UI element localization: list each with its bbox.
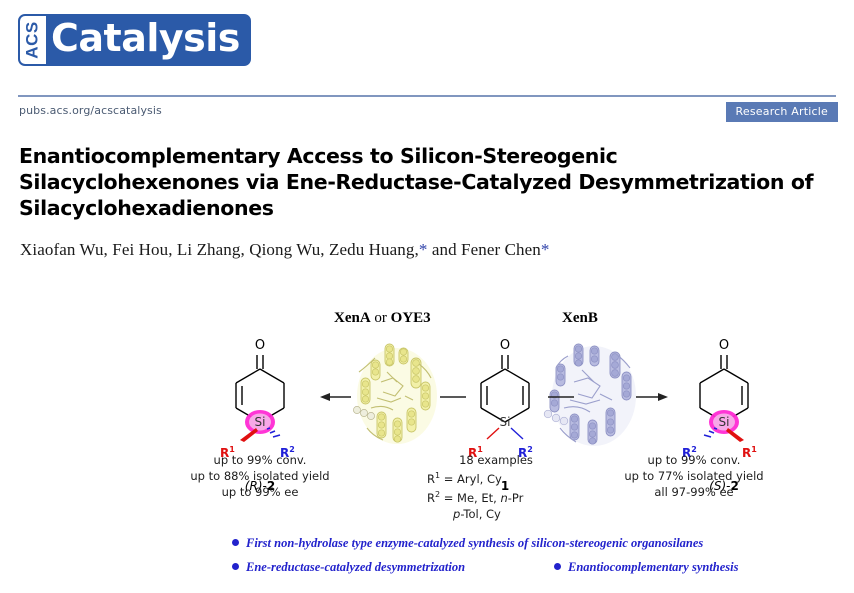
oxygen-label-left: O: [255, 338, 265, 353]
left-ee-text: up to 99% ee: [170, 484, 350, 500]
protein-ribbon-xena-oye3: [337, 338, 457, 450]
structure-s-2-diagram: O Si: [660, 336, 788, 444]
reaction-arrow-left: [320, 390, 352, 404]
author-list: Xiaofan Wu, Fei Hou, Li Zhang, Qiong Wu,…: [20, 240, 549, 260]
highlight-item-1: First non-hydrolase type enzyme-catalyze…: [232, 536, 703, 551]
reaction-line-left: [440, 390, 466, 404]
left-yield-text: up to 88% isolated yield: [170, 468, 350, 484]
reaction-arrow-right: [636, 390, 668, 404]
article-type-badge: Research Article: [726, 102, 838, 122]
page-title: Enantiocomplementary Access to Silicon-S…: [19, 143, 839, 221]
reaction-line-right: [548, 390, 574, 404]
silicon-label-left: Si: [255, 415, 266, 429]
highlight-item-2: Ene-reductase-catalyzed desymmetrization: [232, 560, 554, 575]
left-enzyme-label: XenA or OYE3: [334, 310, 431, 327]
header-divider: [18, 95, 836, 97]
highlight-item-2-text: Ene-reductase-catalyzed desymmetrization: [246, 560, 465, 575]
left-conv-text: up to 99% conv.: [170, 452, 350, 468]
author-names-secondary: and Fener Chen: [427, 240, 540, 259]
center-scope-caption: 18 examples R1 = Aryl, Cy R2 = Me, Et, n…: [423, 452, 593, 522]
structure-r-2-diagram: O Si: [196, 336, 324, 444]
graphical-abstract: XenA or OYE3 XenB O Si: [0, 300, 854, 550]
right-enzyme-label: XenB: [562, 310, 598, 327]
enzyme-oye3-text: OYE3: [391, 310, 431, 326]
right-conv-text: up to 99% conv.: [604, 452, 784, 468]
enzyme-conjunction-text: or: [371, 310, 391, 326]
oxygen-label-right: O: [719, 338, 729, 353]
highlight-item-1-text: First non-hydrolase type enzyme-catalyze…: [246, 536, 703, 551]
oxygen-label-center: O: [500, 338, 510, 353]
author-names-primary: Xiaofan Wu, Fei Hou, Li Zhang, Qiong Wu,…: [20, 240, 419, 259]
acs-society-mark: ACS: [20, 16, 46, 64]
silicon-label-center: Si: [500, 415, 511, 429]
corresponding-author-mark-2: *: [541, 240, 550, 259]
r2-definition-text: R2 = Me, Et, n-Pr: [423, 487, 593, 506]
enzyme-xenb-text: XenB: [562, 310, 598, 326]
bullet-dot-icon: [232, 563, 239, 570]
highlight-item-3-text: Enantiocomplementary synthesis: [568, 560, 739, 575]
acs-society-mark-text: ACS: [23, 21, 43, 58]
r1-definition-text: R1 = Aryl, Cy: [423, 468, 593, 487]
journal-logo: ACS Catalysis: [18, 14, 251, 66]
journal-url-link[interactable]: pubs.acs.org/acscatalysis: [19, 104, 162, 117]
highlight-item-3: Enantiocomplementary synthesis: [554, 560, 739, 575]
left-results-caption: up to 99% conv. up to 88% isolated yield…: [170, 452, 350, 500]
r2-definition-continued-text: p-Tol, Cy: [423, 506, 593, 522]
bullet-dot-icon: [554, 563, 561, 570]
enzyme-xena-text: XenA: [334, 310, 371, 326]
highlights-list: First non-hydrolase type enzyme-catalyze…: [0, 536, 854, 584]
journal-name-text: Catalysis: [46, 16, 249, 64]
right-results-caption: up to 99% conv. up to 77% isolated yield…: [604, 452, 784, 500]
bullet-dot-icon: [232, 539, 239, 546]
silicon-label-right: Si: [719, 415, 730, 429]
right-yield-text: up to 77% isolated yield: [604, 468, 784, 484]
right-ee-text: all 97-99% ee: [604, 484, 784, 500]
examples-count-text: 18 examples: [423, 452, 593, 468]
